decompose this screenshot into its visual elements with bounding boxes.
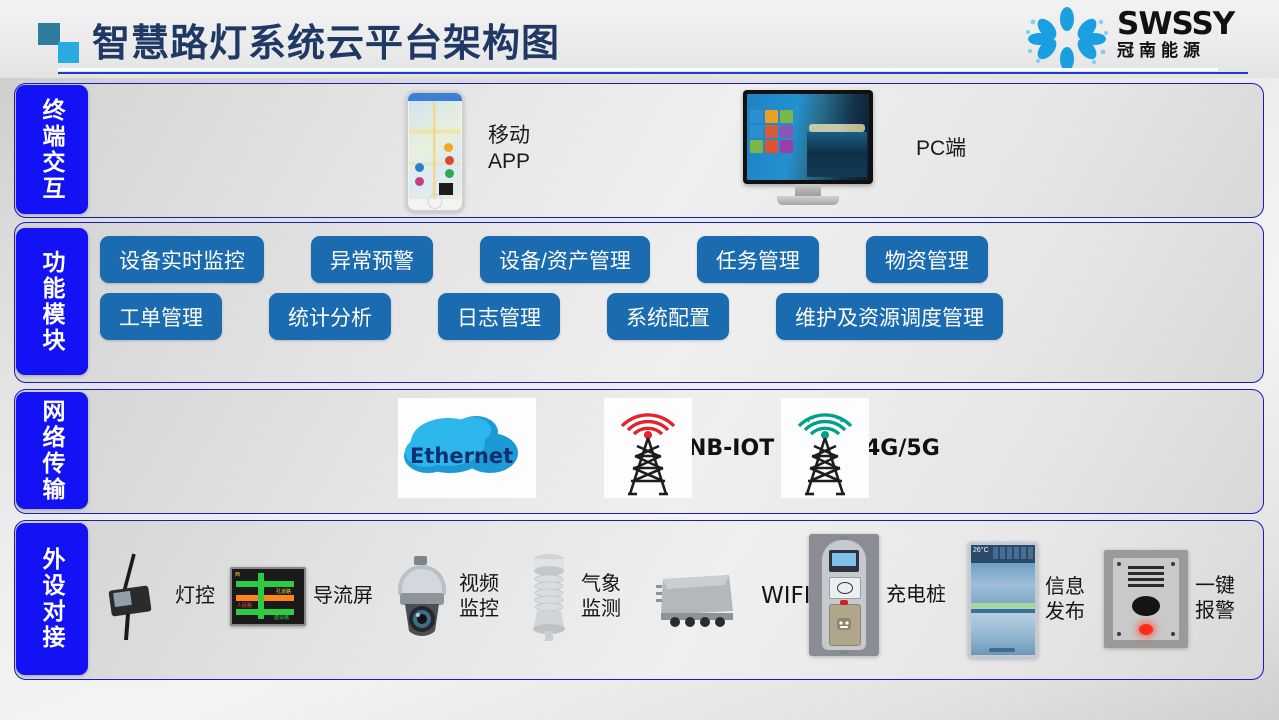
terminal-label-pc: PC端 xyxy=(916,136,966,162)
header-divider-white xyxy=(58,68,1218,71)
module-button-abnormal-alert[interactable]: 异常预警 xyxy=(311,236,433,283)
device-label-emergency-alarm: 一键 报警 xyxy=(1195,574,1235,624)
device-item-info-display: 26°C 信息 发布 xyxy=(968,542,1085,658)
device-label-charging-pile: 充电桩 xyxy=(886,583,946,608)
terminal-row: 移动 APP PC端 xyxy=(96,83,1256,216)
network-row: Ethernet NB-IOT xyxy=(96,389,1256,512)
layer-label-network: 网络传输 xyxy=(16,392,88,509)
radio-tower-icon xyxy=(781,398,869,498)
charging-pile-icon xyxy=(809,534,879,656)
company-logo: SWSSY 冠南能源 xyxy=(1021,4,1271,74)
device-label-wifi: WIFI xyxy=(761,584,811,609)
device-label-info-display: 信息 发布 xyxy=(1045,575,1085,625)
page-header: 智慧路灯系统云平台架构图 SWSSY 冠南能源 xyxy=(0,0,1279,78)
device-label-lamp-controller: 灯控 xyxy=(175,584,215,609)
device-label-guidance-screen: 导流屏 xyxy=(313,584,373,609)
square-cyan-icon xyxy=(58,42,79,63)
network-item-nbiot: NB-IOT xyxy=(604,398,774,498)
layer-label-device: 外设对接 xyxy=(16,523,88,675)
module-button-asset-management[interactable]: 设备/资产管理 xyxy=(480,236,650,283)
emergency-alarm-icon xyxy=(1104,550,1188,648)
info-display-icon: 26°C xyxy=(968,542,1038,658)
device-item-wifi: WIFI xyxy=(653,565,811,627)
device-item-charging-pile: 充电桩 xyxy=(809,534,946,656)
desktop-monitor-icon xyxy=(743,90,873,210)
wifi-ap-icon xyxy=(653,565,739,627)
module-row-2: 工单管理 统计分析 日志管理 系统配置 维护及资源调度管理 xyxy=(100,293,1250,340)
network-item-4g5g: 4G/5G xyxy=(781,398,940,498)
module-button-work-order[interactable]: 工单管理 xyxy=(100,293,222,340)
network-item-ethernet: Ethernet xyxy=(398,398,536,498)
layer-label-terminal: 终端交互 xyxy=(16,85,88,214)
radio-tower-icon xyxy=(604,398,692,498)
weather-sensor-icon xyxy=(524,549,574,645)
module-button-realtime-monitor[interactable]: 设备实时监控 xyxy=(100,236,264,283)
logo-wordmark: SWSSY 冠南能源 xyxy=(1117,8,1234,62)
lamp-controller-icon xyxy=(104,550,168,642)
logo-text-cn: 冠南能源 xyxy=(1117,40,1234,62)
device-item-weather: 气象 监测 xyxy=(524,549,621,645)
cloud-icon: Ethernet xyxy=(398,398,536,498)
module-button-material-management[interactable]: 物资管理 xyxy=(866,236,988,283)
module-button-statistics[interactable]: 统计分析 xyxy=(269,293,391,340)
water-drop-flower-logo-icon xyxy=(1021,6,1113,72)
device-row: 灯控 西 孔道路 人民路 建设路 导流屏 xyxy=(96,520,1262,678)
header-divider-blue xyxy=(58,72,1248,74)
logo-text-en: SWSSY xyxy=(1117,8,1234,40)
ptz-camera-icon xyxy=(392,555,452,639)
device-item-emergency-alarm: 一键 报警 xyxy=(1104,550,1235,648)
title-bullet-decoration xyxy=(38,23,86,63)
layer-label-module: 功能模块 xyxy=(16,228,88,375)
module-button-log-management[interactable]: 日志管理 xyxy=(438,293,560,340)
device-item-guidance-screen: 西 孔道路 人民路 建设路 导流屏 xyxy=(230,567,373,626)
module-button-system-config[interactable]: 系统配置 xyxy=(607,293,729,340)
network-label-nbiot: NB-IOT xyxy=(688,436,774,461)
smartphone-map-icon xyxy=(406,91,464,212)
module-row-1: 设备实时监控 异常预警 设备/资产管理 任务管理 物资管理 xyxy=(100,236,1250,283)
square-dark-icon xyxy=(38,23,60,45)
cloud-label: Ethernet xyxy=(410,444,513,468)
device-item-lamp-controller: 灯控 xyxy=(104,550,215,642)
page-title: 智慧路灯系统云平台架构图 xyxy=(92,12,560,67)
module-button-area: 设备实时监控 异常预警 设备/资产管理 任务管理 物资管理 工单管理 统计分析 … xyxy=(100,236,1250,368)
network-label-4g5g: 4G/5G xyxy=(865,436,940,461)
module-button-maintenance-dispatch[interactable]: 维护及资源调度管理 xyxy=(776,293,1003,340)
module-button-task-management[interactable]: 任务管理 xyxy=(697,236,819,283)
terminal-label-mobile-app: 移动 APP xyxy=(488,123,530,175)
device-label-weather: 气象 监测 xyxy=(581,572,621,622)
guidance-screen-icon: 西 孔道路 人民路 建设路 xyxy=(230,567,306,626)
device-label-camera: 视频 监控 xyxy=(459,572,499,622)
device-item-camera: 视频 监控 xyxy=(392,555,499,639)
